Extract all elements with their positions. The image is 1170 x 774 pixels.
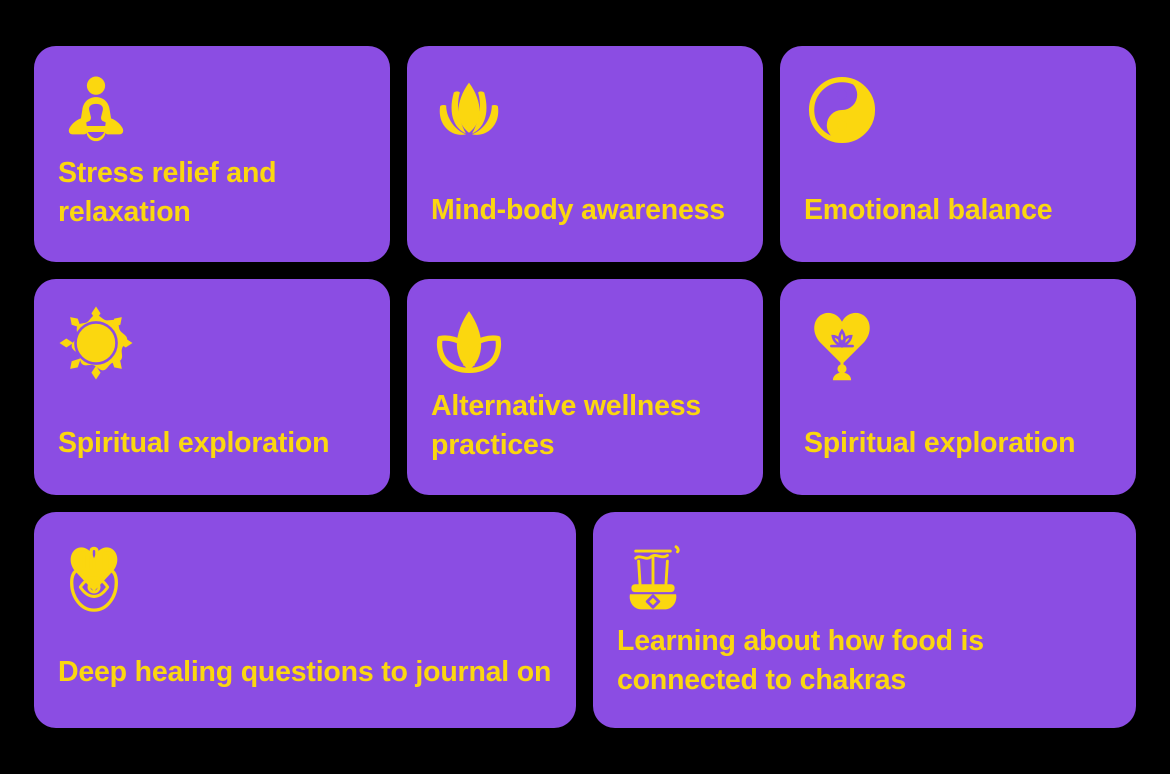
card-row-1: Stress relief and relaxation Mind-body a… (34, 46, 1136, 262)
hamsa-hand-eye-icon (58, 538, 130, 616)
meditating-person-icon (58, 72, 134, 148)
card-row-3: Deep healing questions to journal on (34, 512, 1136, 728)
card-mind-body[interactable]: Mind-body awareness (407, 46, 763, 262)
yin-yang-icon (804, 72, 880, 148)
card-label: Alternative wellness practices (431, 387, 739, 466)
card-food-chakras[interactable]: Learning about how food is connected to … (593, 512, 1136, 728)
card-alternative-wellness[interactable]: Alternative wellness practices (407, 279, 763, 495)
card-spiritual-exploration-sun[interactable]: Spiritual exploration (34, 279, 390, 495)
heart-lotus-person-icon (804, 305, 880, 381)
card-row-2: Spiritual exploration Alternative wellne… (34, 279, 1136, 495)
card-label: Deep healing questions to journal on (58, 653, 552, 692)
card-label: Emotional balance (804, 191, 1112, 230)
card-label: Spiritual exploration (58, 424, 366, 463)
lotus-flower-icon (431, 72, 507, 148)
card-emotional-balance[interactable]: Emotional balance (780, 46, 1136, 262)
card-deep-healing-questions[interactable]: Deep healing questions to journal on (34, 512, 576, 728)
card-grid: Stress relief and relaxation Mind-body a… (34, 46, 1136, 728)
incense-burner-icon (617, 538, 689, 616)
card-spiritual-exploration-heart[interactable]: Spiritual exploration (780, 279, 1136, 495)
sun-mandala-icon (58, 305, 134, 381)
sprout-leaves-icon (431, 305, 507, 381)
card-label: Spiritual exploration (804, 424, 1112, 463)
card-board: Stress relief and relaxation Mind-body a… (0, 0, 1170, 774)
card-stress-relief[interactable]: Stress relief and relaxation (34, 46, 390, 262)
card-label: Stress relief and relaxation (58, 154, 366, 233)
card-label: Learning about how food is connected to … (617, 622, 1112, 701)
card-label: Mind-body awareness (431, 191, 739, 230)
